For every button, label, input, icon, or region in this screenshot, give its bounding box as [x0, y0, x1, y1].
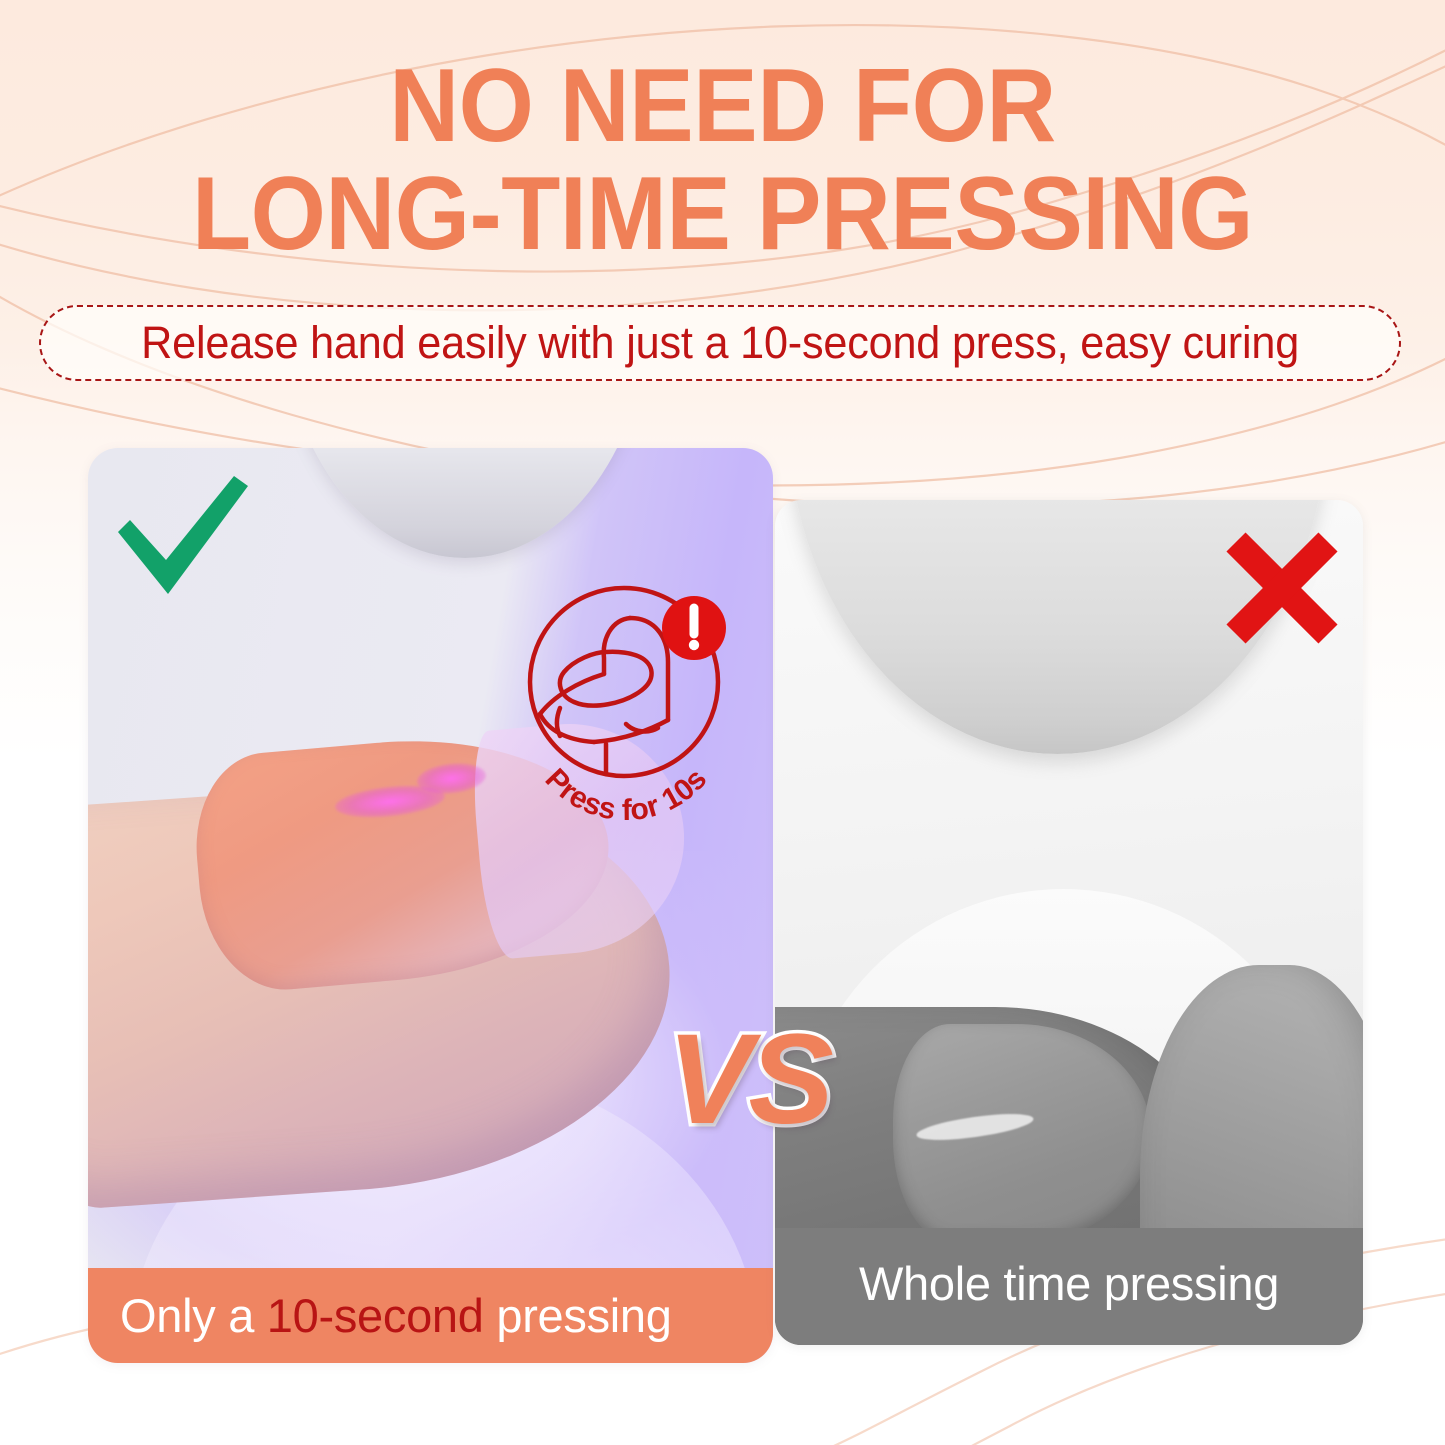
- x-mark-icon: [1222, 528, 1342, 648]
- check-mark-icon: [112, 470, 252, 600]
- press-for-10s-badge: Press for 10s: [508, 556, 740, 824]
- versus-label: VS: [667, 1016, 830, 1144]
- headline-line-1: NO NEED FOR: [51, 56, 1395, 158]
- left-caption-prefix: Only a: [120, 1289, 267, 1342]
- left-caption-text: Only a 10-second pressing: [120, 1288, 672, 1343]
- exclamation-circle-icon: [662, 596, 726, 660]
- promo-banner: NO NEED FOR LONG-TIME PRESSING Release h…: [0, 0, 1445, 1445]
- left-caption-highlight: 10-second: [267, 1289, 484, 1342]
- subtitle-text: Release hand easily with just a 10-secon…: [141, 317, 1299, 369]
- headline-line-2: LONG-TIME PRESSING: [51, 164, 1395, 266]
- right-caption-bar: Whole time pressing: [775, 1228, 1363, 1345]
- uv-lamp-head: [280, 448, 650, 558]
- subtitle-banner: Release hand easily with just a 10-secon…: [39, 305, 1401, 381]
- left-caption-bar: Only a 10-second pressing: [88, 1268, 773, 1363]
- page-title: NO NEED FOR LONG-TIME PRESSING: [51, 56, 1395, 266]
- right-caption-text: Whole time pressing: [859, 1256, 1279, 1311]
- left-caption-suffix: pressing: [484, 1289, 672, 1342]
- press-badge-label: Press for 10s: [539, 762, 714, 824]
